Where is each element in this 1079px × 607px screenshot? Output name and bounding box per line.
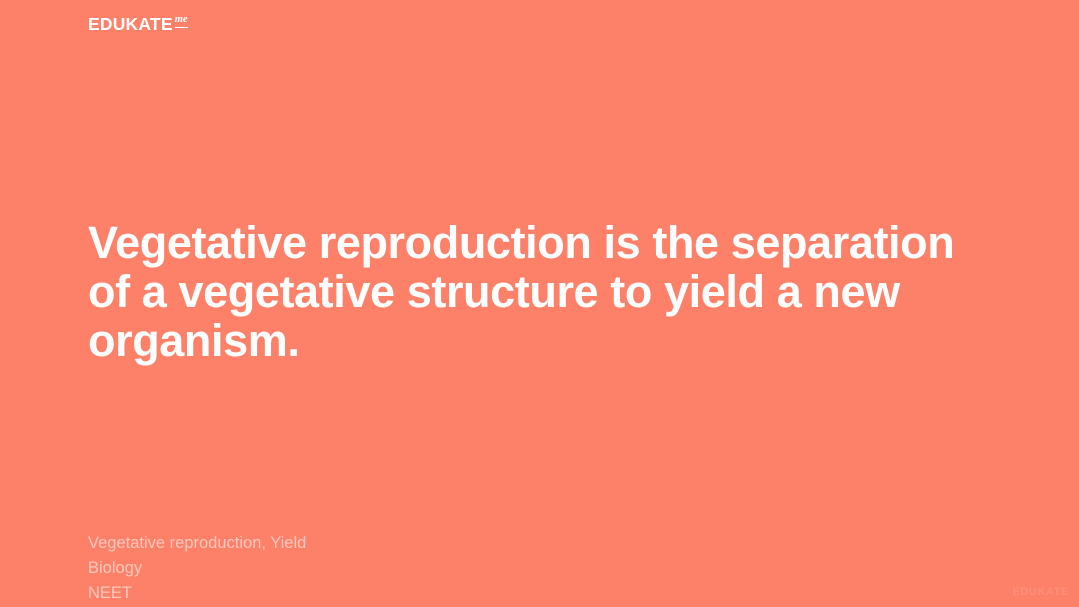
- slide-headline: Vegetative reproduction is the separatio…: [88, 218, 998, 365]
- footer-keywords: Vegetative reproduction, Yield: [88, 531, 306, 556]
- footer-exam: NEET: [88, 581, 306, 606]
- slide-canvas: EDUKATE me Vegetative reproduction is th…: [0, 0, 1079, 607]
- footer-metadata: Vegetative reproduction, Yield Biology N…: [88, 531, 306, 606]
- brand-logo[interactable]: EDUKATE me: [88, 16, 188, 34]
- footer-subject: Biology: [88, 556, 306, 581]
- corner-watermark: EDUKATE: [1012, 586, 1069, 598]
- brand-wordmark: EDUKATE: [88, 16, 173, 34]
- brand-superscript-me: me: [175, 15, 188, 28]
